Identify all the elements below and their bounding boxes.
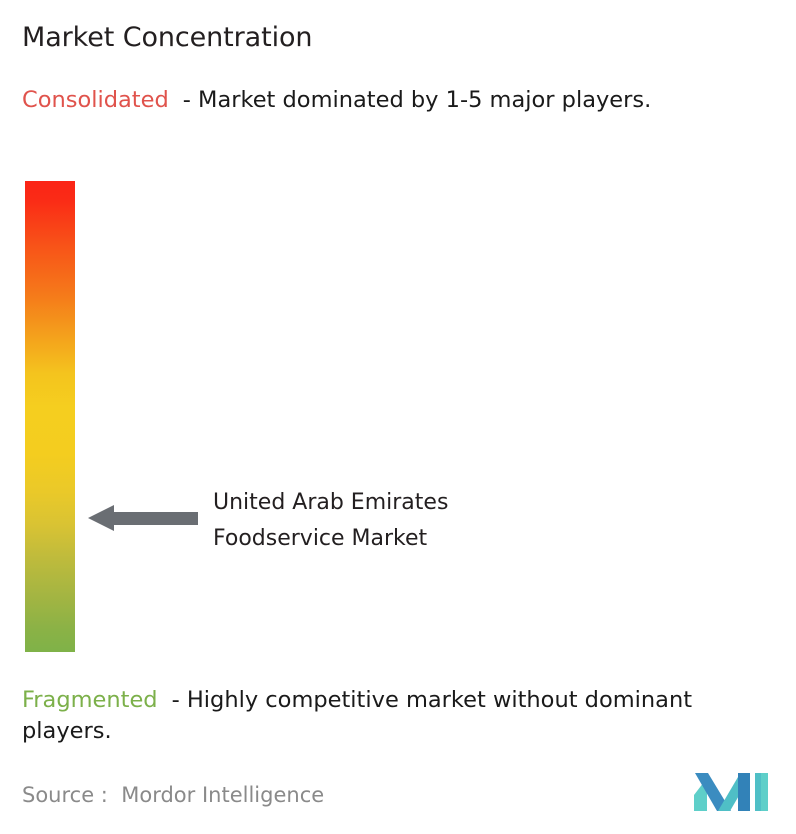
legend-description-consolidated: Market dominated by 1-5 major players. bbox=[198, 87, 651, 113]
legend-separator-bottom: - bbox=[172, 687, 180, 713]
legend-consolidated: Consolidated- Market dominated by 1-5 ma… bbox=[22, 85, 774, 116]
concentration-scale bbox=[25, 181, 75, 652]
legend-keyword-fragmented: Fragmented bbox=[22, 687, 158, 713]
logo-mark bbox=[694, 769, 768, 811]
concentration-gradient-bar bbox=[25, 181, 75, 652]
source-name: Mordor Intelligence bbox=[121, 783, 324, 807]
source-label: Source : bbox=[22, 783, 108, 807]
legend-keyword-consolidated: Consolidated bbox=[22, 87, 169, 113]
left-arrow-icon bbox=[88, 503, 198, 533]
marker-label: United Arab Emirates Foodservice Market bbox=[213, 485, 448, 557]
page-title: Market Concentration bbox=[22, 21, 312, 55]
marker-pointer bbox=[88, 503, 198, 533]
legend-fragmented: Fragmented- Highly competitive market wi… bbox=[22, 685, 788, 747]
mordor-intelligence-logo-icon bbox=[694, 769, 768, 811]
legend-separator-top: - bbox=[183, 87, 191, 113]
source-attribution: Source : Mordor Intelligence bbox=[22, 782, 324, 808]
